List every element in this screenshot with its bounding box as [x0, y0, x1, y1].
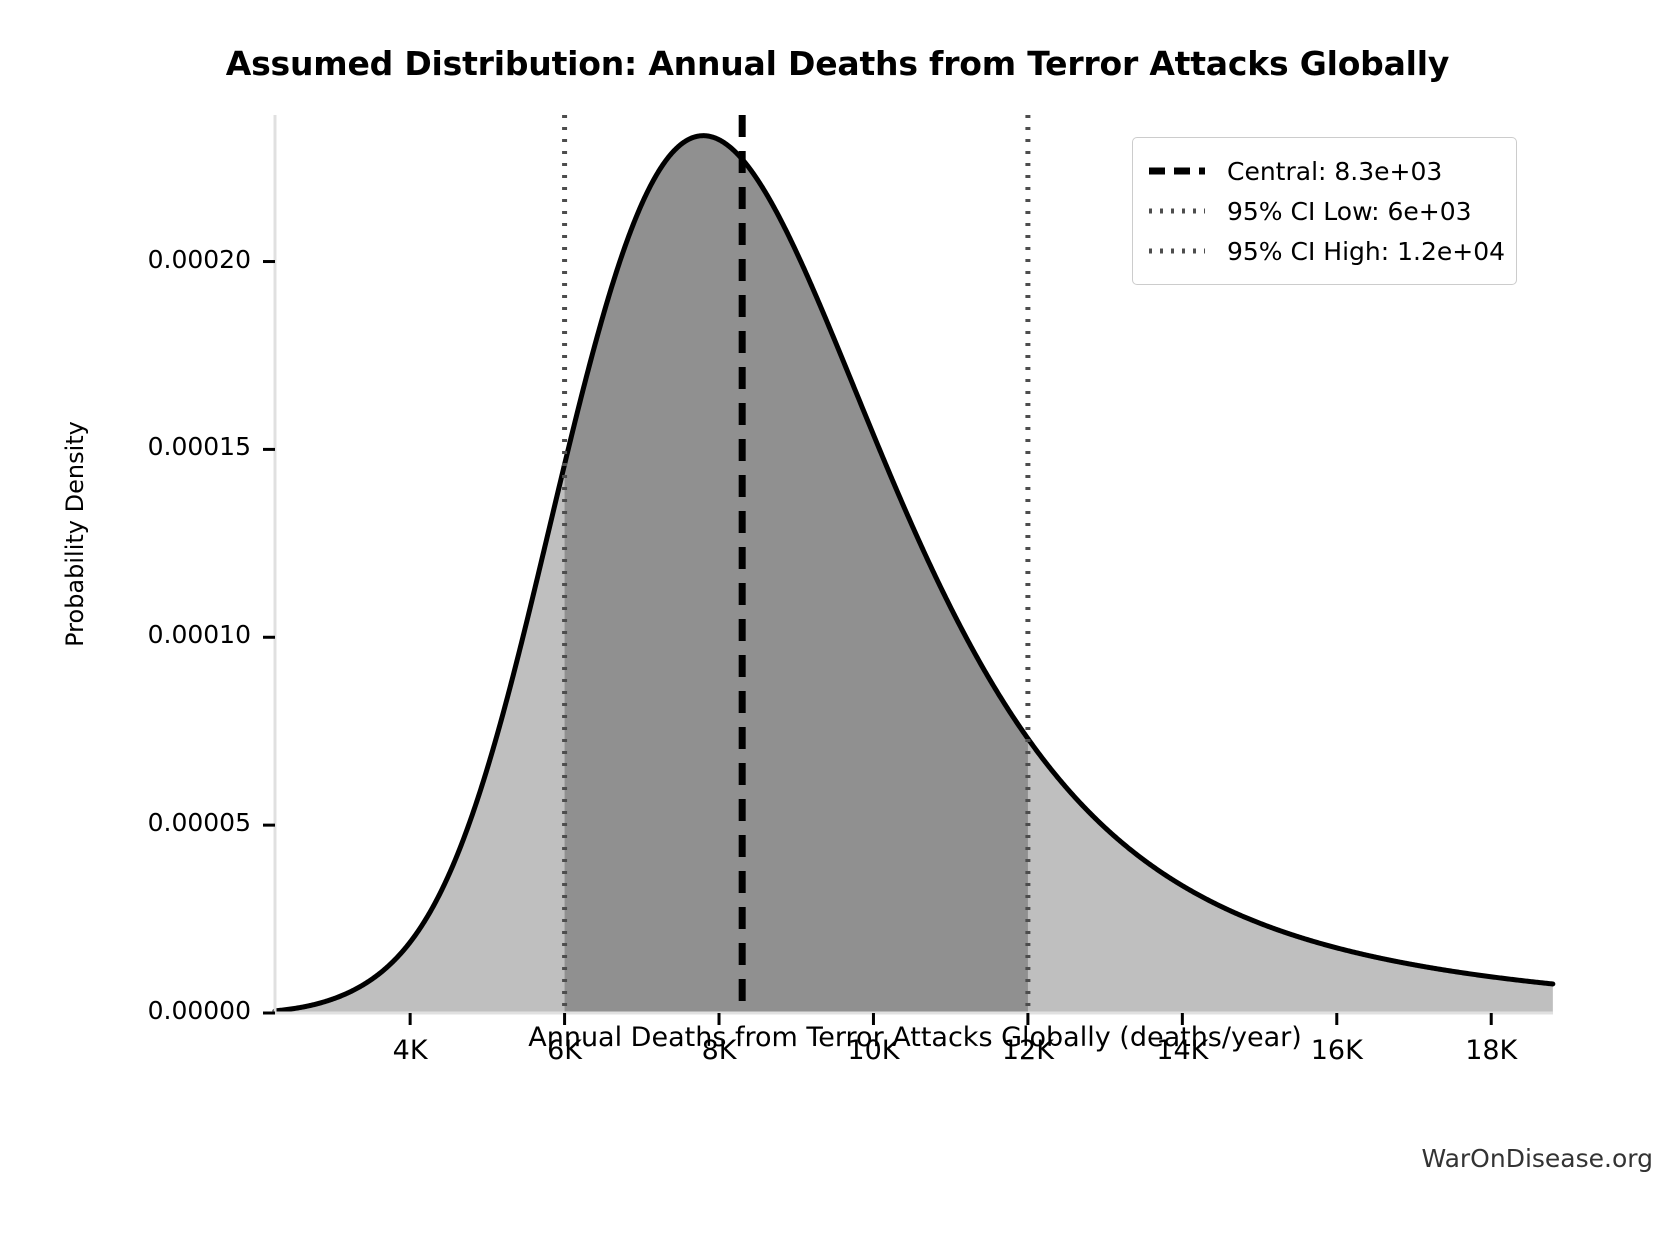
legend-item: 95% CI Low: 6e+03: [1147, 191, 1502, 231]
legend-item: 95% CI High: 1.2e+04: [1147, 231, 1502, 271]
watermark-text: WarOnDisease.org: [1421, 1144, 1653, 1173]
legend-label: 95% CI Low: 6e+03: [1227, 197, 1472, 226]
legend-item: Central: 8.3e+03: [1147, 151, 1502, 191]
y-axis-label: Probability Density: [61, 284, 89, 784]
legend-label: 95% CI High: 1.2e+04: [1227, 237, 1505, 266]
figure-canvas: Assumed Distribution: Annual Deaths from…: [0, 0, 1675, 1234]
dashed-line-icon: [1147, 159, 1207, 183]
legend-label: Central: 8.3e+03: [1227, 157, 1442, 186]
density-fill-ci: [565, 136, 1028, 1013]
chart-legend: Central: 8.3e+0395% CI Low: 6e+0395% CI …: [1132, 137, 1517, 285]
dotted-line-icon: [1147, 199, 1207, 223]
dotted-line-icon: [1147, 239, 1207, 263]
x-axis-label: Annual Deaths from Terror Attacks Global…: [275, 1022, 1555, 1053]
